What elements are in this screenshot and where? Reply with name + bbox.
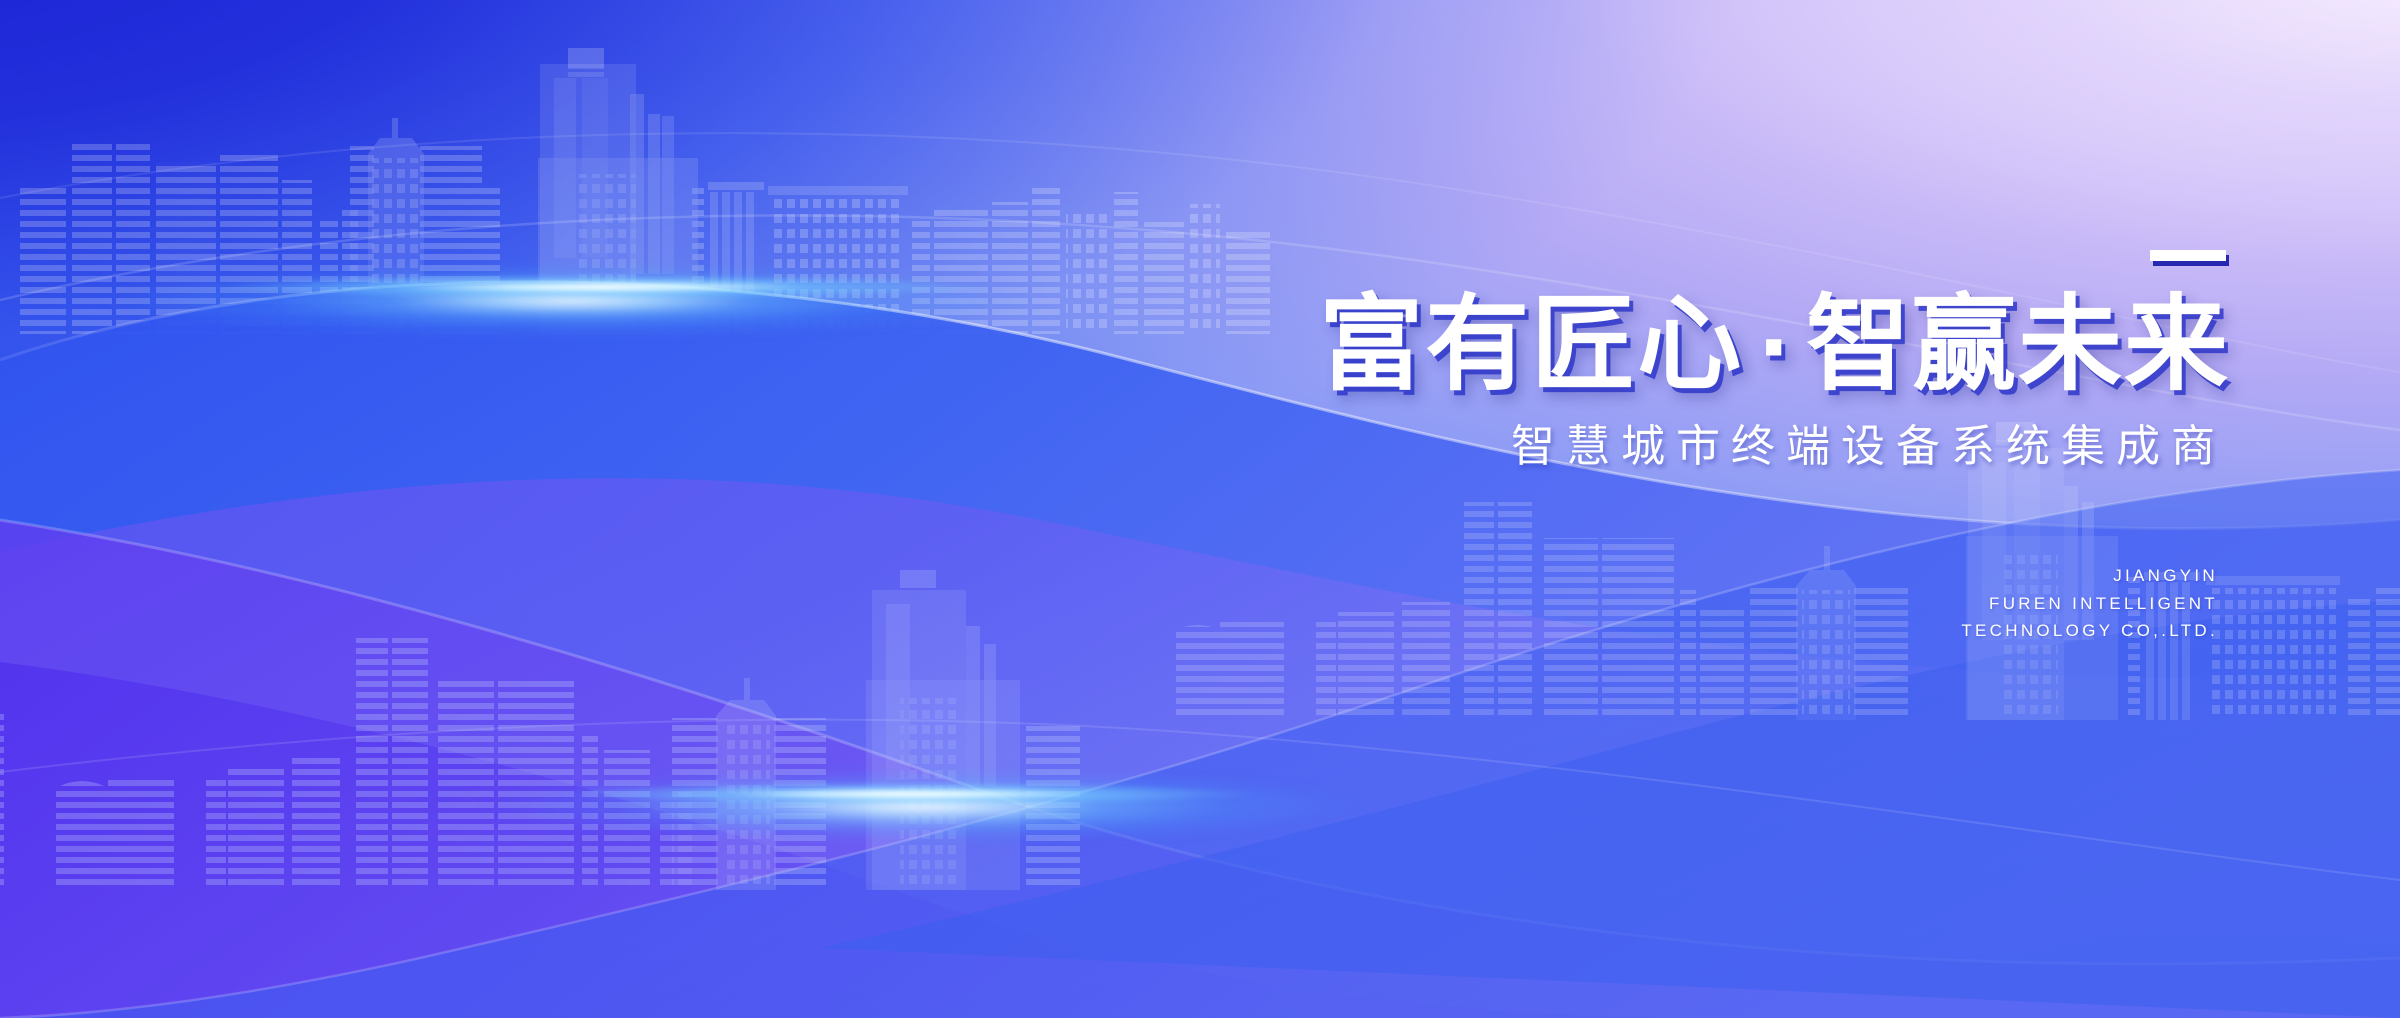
company-line-1: JIANGYIN bbox=[1070, 562, 2218, 590]
headline-block: 富有匠心·智赢未来 智慧城市终端设备系统集成商 JIANGYIN FUREN I… bbox=[1070, 250, 2230, 645]
headline-separator: · bbox=[1743, 298, 1806, 398]
page-title: 富有匠心·智赢未来 bbox=[1070, 289, 2230, 399]
company-line-3: TECHNOLOGY CO,.LTD. bbox=[1070, 617, 2218, 645]
subtitle: 智慧城市终端设备系统集成商 bbox=[1070, 421, 2226, 474]
city-skyline-bottom-icon bbox=[0, 560, 1080, 890]
company-line-2: FUREN INTELLIGENT bbox=[1070, 590, 2218, 618]
dash-accent-icon bbox=[2150, 250, 2226, 261]
headline-part-1: 富有匠心 bbox=[1319, 283, 1743, 405]
company-name-block: JIANGYIN FUREN INTELLIGENT TECHNOLOGY CO… bbox=[1070, 562, 2218, 645]
promotional-banner: 富有匠心·智赢未来 智慧城市终端设备系统集成商 JIANGYIN FUREN I… bbox=[0, 0, 2400, 1018]
headline-part-2: 智赢未来 bbox=[1806, 283, 2230, 405]
